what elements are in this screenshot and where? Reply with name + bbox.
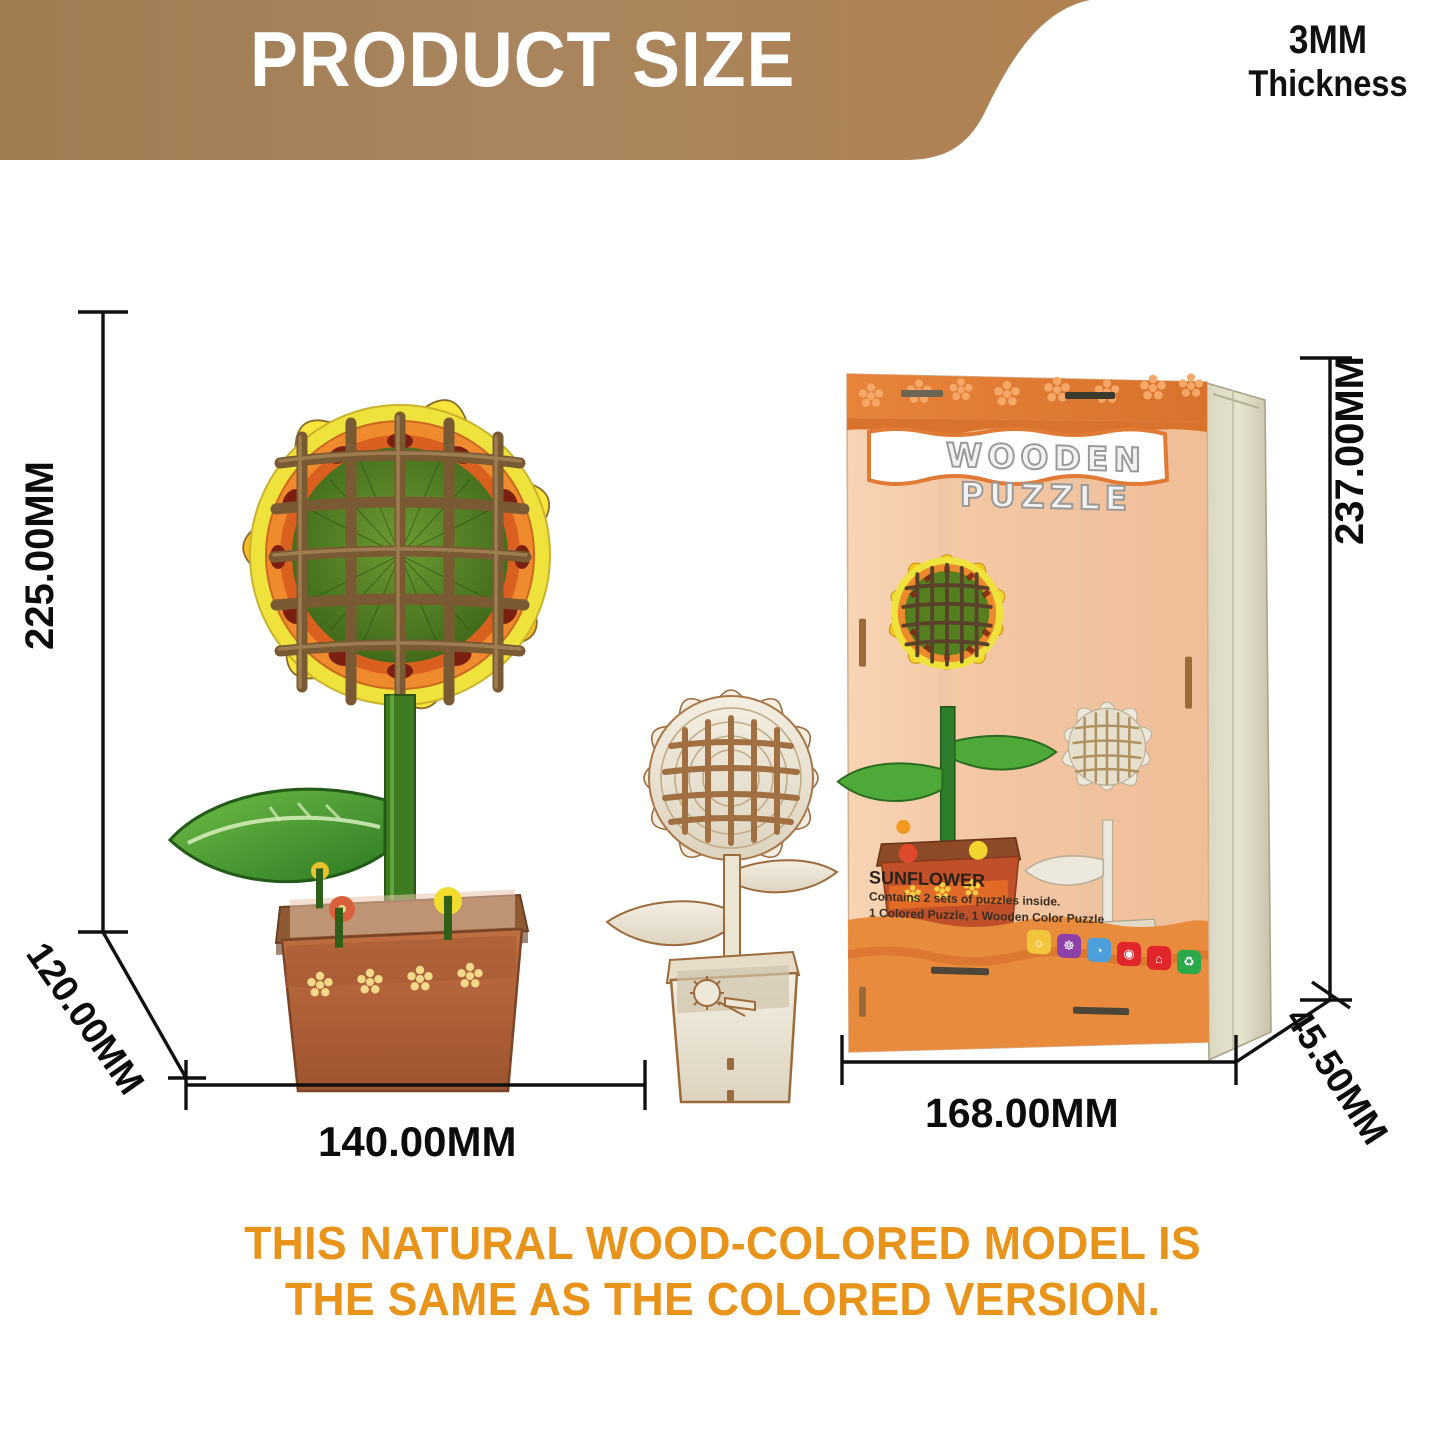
dimension-label-height: 225.00MM (18, 461, 63, 650)
molecule-icon: ☸ (1057, 934, 1081, 959)
lightbulb-icon: ☼ (1027, 930, 1051, 955)
thickness-note: 3MM Thickness (1228, 18, 1428, 104)
natural-leaf-left (607, 901, 724, 945)
caption-line-1: THIS NATURAL WOOD-COLORED MODEL IS (22, 1215, 1424, 1271)
bottom-caption: THIS NATURAL WOOD-COLORED MODEL IS THE S… (0, 1215, 1445, 1327)
thickness-label: Thickness (1240, 63, 1416, 104)
brain-icon: ◔ (1087, 938, 1111, 963)
natural-pot (667, 952, 799, 1102)
page-title: PRODUCT SIZE (250, 14, 795, 105)
box-slot-top-left (901, 390, 943, 397)
house-icon: ⌂ (1147, 946, 1171, 971)
stem (385, 695, 415, 915)
package-box: WOODEN PUZZLE SUNFLOWER Contains 2 sets … (835, 360, 1305, 1060)
box-slot-left (859, 619, 866, 667)
natural-wood-sunflower-model (585, 650, 875, 1110)
flower-pot (276, 862, 528, 1091)
box-slot-top-right (1065, 392, 1115, 399)
dimension-label-box-width: 168.00MM (925, 1090, 1119, 1137)
leaf-left (170, 789, 385, 882)
box-slot-right (1185, 657, 1192, 709)
box-slot-left-lower (859, 987, 866, 1017)
natural-leaf-right (740, 860, 837, 892)
box-title: WOODEN PUZZLE (881, 434, 1211, 521)
dimension-label-box-depth: 45.50MM (1277, 1000, 1396, 1152)
dimension-label-width: 140.00MM (318, 1118, 516, 1166)
natural-lattice (665, 718, 797, 843)
box-side-panel (1203, 382, 1271, 1060)
dimension-label-box-height: 237.00MM (1328, 356, 1373, 545)
caption-line-2: THE SAME AS THE COLORED VERSION. (22, 1271, 1424, 1327)
eye-icon: ◉ (1117, 942, 1141, 967)
box-product-name: SUNFLOWER (869, 867, 985, 891)
recycle-icon: ♻ (1177, 950, 1201, 975)
box-top-band (847, 373, 1207, 436)
thickness-value: 3MM (1240, 18, 1416, 63)
